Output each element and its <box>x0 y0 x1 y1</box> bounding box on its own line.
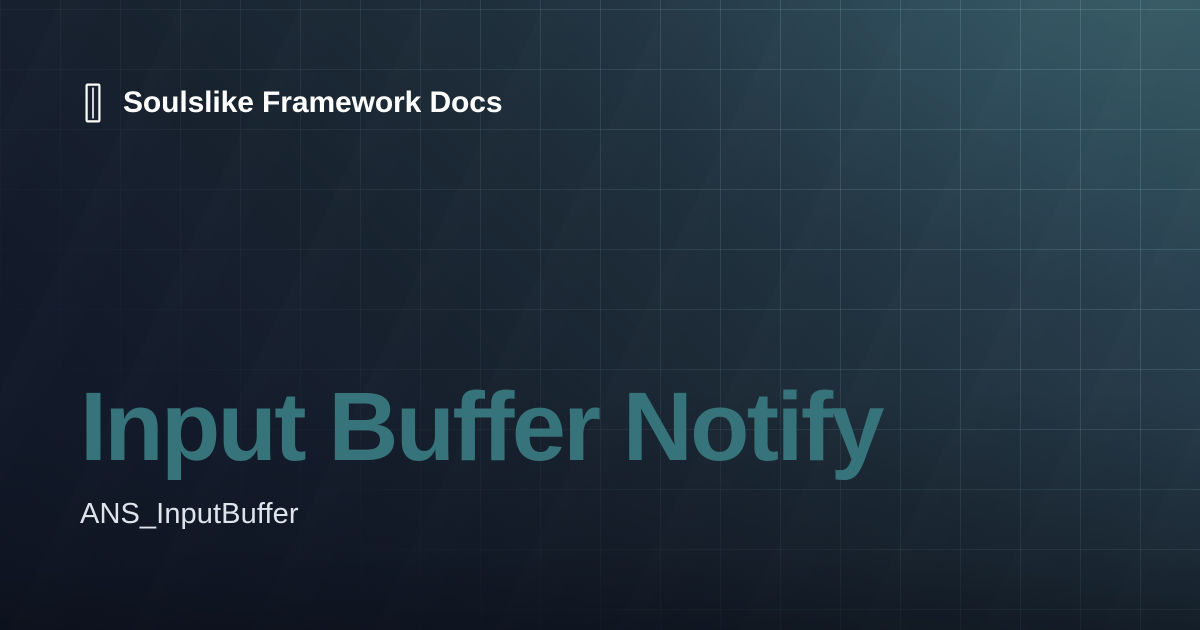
site-title: Soulslike Framework Docs <box>123 88 502 118</box>
page-title: Input Buffer Notify <box>80 378 1120 475</box>
card-content: Soulslike Framework Docs Input Buffer No… <box>0 0 1200 630</box>
og-card: Soulslike Framework Docs Input Buffer No… <box>0 0 1200 630</box>
hero-block: Input Buffer Notify ANS_InputBuffer <box>80 378 1120 531</box>
book-icon <box>80 83 106 123</box>
page-subtitle: ANS_InputBuffer <box>80 498 1120 531</box>
brand-header: Soulslike Framework Docs <box>80 79 502 127</box>
